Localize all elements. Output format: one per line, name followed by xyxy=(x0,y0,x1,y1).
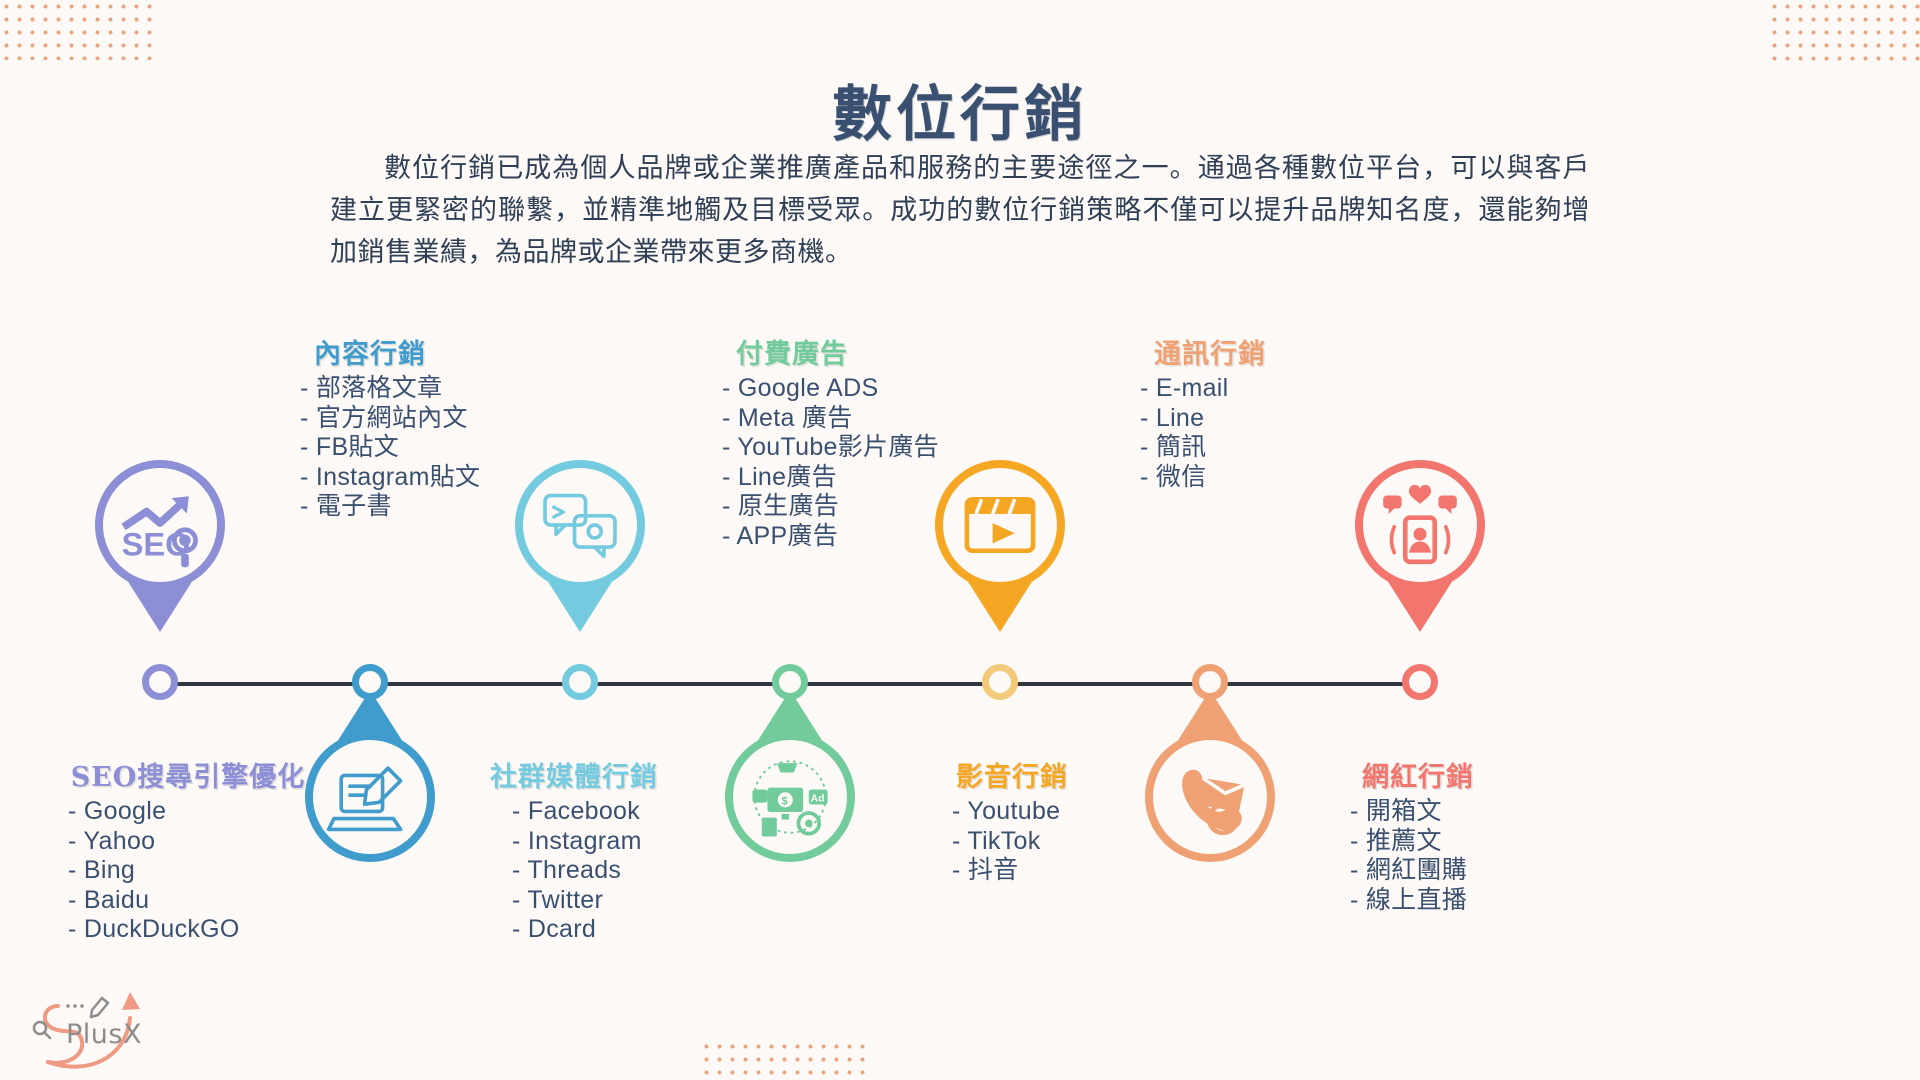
svg-text:@: @ xyxy=(1216,809,1236,831)
node-title-comms: 通訊行銷 xyxy=(1140,332,1450,371)
node-title-influencer: 網紅行銷 xyxy=(1340,755,1650,794)
timeline-node-dot-content[interactable] xyxy=(352,664,388,700)
svg-text:$: $ xyxy=(782,796,789,808)
list-item: - Google xyxy=(68,797,338,827)
list-item: - YouTube影片廣告 xyxy=(722,433,1032,463)
node-list-influencer: - 開箱文 - 推薦文 - 網紅團購 - 線上直播 xyxy=(1340,797,1650,915)
plusx-logo[interactable]: PlusX xyxy=(18,988,178,1074)
timeline-node-dot-video[interactable] xyxy=(982,664,1018,700)
list-item: - Dcard xyxy=(512,915,800,945)
list-item: - Yahoo xyxy=(68,827,338,857)
timeline-node-dot-influencer[interactable] xyxy=(1402,664,1438,700)
phone-mail-at-icon: @ xyxy=(1164,751,1256,843)
social-chat-bubbles-icon xyxy=(534,479,626,571)
dot-pattern-bottom-center xyxy=(700,1040,865,1080)
node-text-influencer: 網紅行銷 - 開箱文 - 推薦文 - 網紅團購 - 線上直播 xyxy=(1340,755,1650,915)
list-item: - DuckDuckGO xyxy=(68,915,338,945)
pin-marker-video[interactable] xyxy=(935,460,1065,590)
list-item: - FB貼文 xyxy=(300,433,610,463)
list-item: - Google ADS xyxy=(722,374,1032,404)
pin-marker-influencer[interactable] xyxy=(1355,460,1485,590)
seo-growth-magnifier-icon: SEO xyxy=(112,477,208,573)
pin-marker-seo[interactable]: SEO xyxy=(95,460,225,590)
timeline-node-dot-comms[interactable] xyxy=(1192,664,1228,700)
dot-pattern-top-left xyxy=(0,0,152,60)
node-title-paidads: 付費廣告 xyxy=(722,332,1032,371)
node-text-seo: SEO搜尋引擎優化 - Google - Yahoo - Bing - Baid… xyxy=(38,755,338,945)
pin-circle-comms: @ xyxy=(1145,732,1275,862)
influencer-phone-hearts-icon xyxy=(1374,479,1466,571)
pin-marker-comms[interactable]: @ xyxy=(1145,732,1275,862)
pin-circle-influencer xyxy=(1355,460,1485,590)
pin-circle-video xyxy=(935,460,1065,590)
dot-pattern-top-right xyxy=(1768,0,1920,62)
list-item: - 開箱文 xyxy=(1350,797,1650,827)
node-title-seo: SEO搜尋引擎優化 xyxy=(38,755,338,794)
timeline-node-dot-seo[interactable] xyxy=(142,664,178,700)
list-item: - 線上直播 xyxy=(1350,886,1650,916)
list-item: - Baidu xyxy=(68,886,338,916)
node-title-content: 內容行銷 xyxy=(300,332,610,371)
pin-circle-content xyxy=(305,732,435,862)
pin-marker-content[interactable] xyxy=(305,732,435,862)
node-list-seo: - Google - Yahoo - Bing - Baidu - DuckDu… xyxy=(38,797,338,945)
intro-paragraph: 數位行銷已成為個人品牌或企業推廣產品和服務的主要途徑之一。通過各種數位平台，可以… xyxy=(330,148,1590,274)
list-item: - Meta 廣告 xyxy=(722,404,1032,434)
list-item: - Line xyxy=(1140,404,1450,434)
pin-marker-paidads[interactable]: $ Ad xyxy=(725,732,855,862)
list-item: - 簡訊 xyxy=(1140,433,1450,463)
pin-circle-social xyxy=(515,460,645,590)
paid-ads-cycle-icon: $ Ad xyxy=(743,750,837,844)
list-item: - Twitter xyxy=(512,886,800,916)
list-item: - E-mail xyxy=(1140,374,1450,404)
list-item: - 網紅團購 xyxy=(1350,856,1650,886)
infographic-canvas: 數位行銷 數位行銷已成為個人品牌或企業推廣產品和服務的主要途徑之一。通過各種數位… xyxy=(0,0,1920,1080)
svg-text:Ad: Ad xyxy=(811,794,825,805)
content-documents-laptop-icon xyxy=(325,752,415,842)
pin-circle-paidads: $ Ad xyxy=(725,732,855,862)
pin-circle-seo: SEO xyxy=(95,460,225,590)
timeline-node-dot-paidads[interactable] xyxy=(772,664,808,700)
page-title: 數位行銷 xyxy=(0,66,1920,153)
plusx-logo-text: PlusX xyxy=(66,1019,142,1050)
timeline-node-dot-social[interactable] xyxy=(562,664,598,700)
list-item: - 官方網站內文 xyxy=(300,404,610,434)
list-item: - 部落格文章 xyxy=(300,374,610,404)
video-player-clapper-icon xyxy=(954,479,1046,571)
pin-marker-social[interactable] xyxy=(515,460,645,590)
list-item: - 推薦文 xyxy=(1350,827,1650,857)
list-item: - Bing xyxy=(68,856,338,886)
